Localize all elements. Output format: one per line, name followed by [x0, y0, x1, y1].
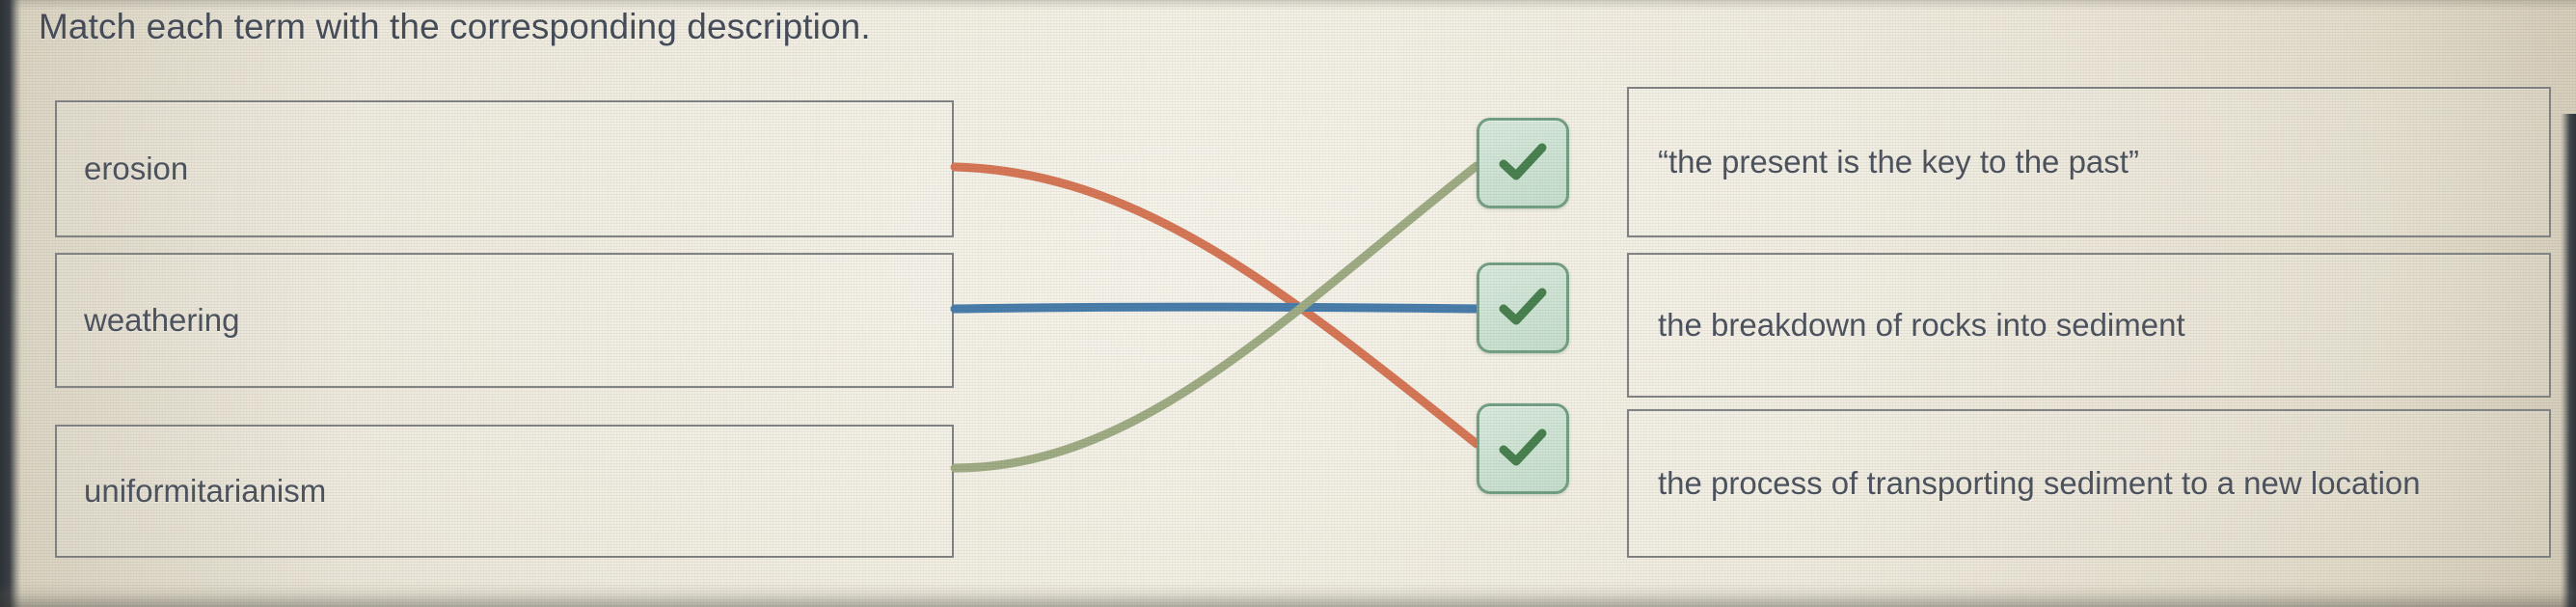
- term-box-uniformitarianism[interactable]: uniformitarianism: [55, 425, 954, 558]
- connector-uniformitarianism-to-present-key-past: [955, 166, 1477, 468]
- match-check-present-key-past[interactable]: [1477, 118, 1569, 208]
- check-icon: [1498, 428, 1548, 470]
- description-label: the breakdown of rocks into sediment: [1629, 305, 2207, 345]
- question-content: Match each term with the corresponding d…: [0, 0, 2576, 607]
- term-label: uniformitarianism: [57, 473, 326, 510]
- match-check-transport-sediment[interactable]: [1477, 403, 1569, 494]
- description-box-transport-sediment[interactable]: the process of transporting sediment to …: [1627, 409, 2551, 558]
- question-screenshot: Match each term with the corresponding d…: [0, 0, 2576, 607]
- description-label: “the present is the key to the past”: [1629, 142, 2160, 182]
- description-label: the process of transporting sediment to …: [1629, 463, 2442, 504]
- term-box-erosion[interactable]: erosion: [55, 100, 954, 237]
- connector-weathering-to-breakdown-rocks: [955, 307, 1477, 309]
- description-box-breakdown-rocks[interactable]: the breakdown of rocks into sediment: [1627, 253, 2551, 398]
- term-label: erosion: [57, 151, 188, 187]
- term-label: weathering: [57, 302, 239, 339]
- term-box-weathering[interactable]: weathering: [55, 253, 954, 388]
- connector-erosion-to-transport-sediment: [955, 167, 1477, 444]
- page-title: Match each term with the corresponding d…: [39, 6, 871, 48]
- check-icon: [1498, 142, 1548, 184]
- description-box-present-key-past[interactable]: “the present is the key to the past”: [1627, 87, 2551, 237]
- match-check-breakdown-rocks[interactable]: [1477, 262, 1569, 353]
- check-icon: [1498, 287, 1548, 329]
